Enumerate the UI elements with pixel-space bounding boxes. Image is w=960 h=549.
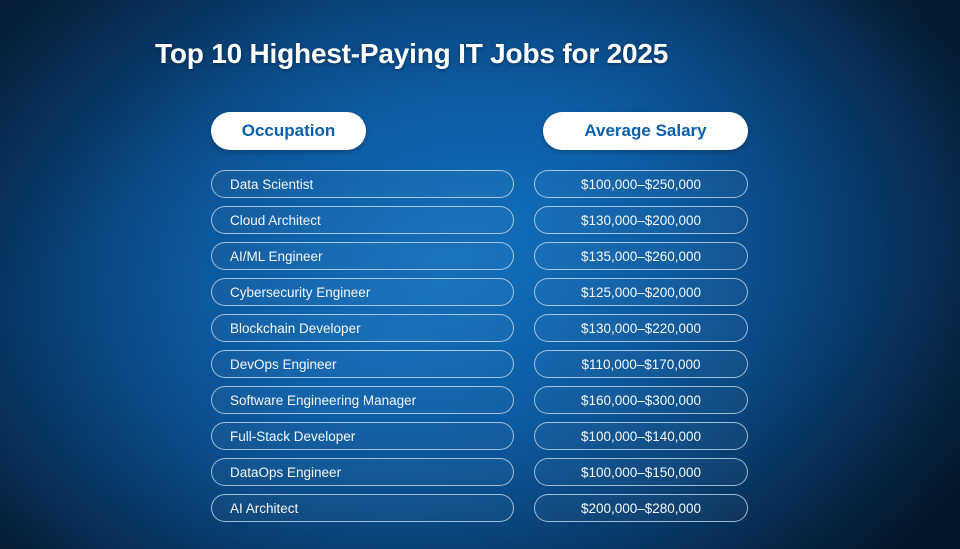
cell-occupation: DataOps Engineer (211, 458, 514, 486)
table-row: AI/ML Engineer$135,000–$260,000 (0, 242, 960, 270)
cell-salary: $100,000–$150,000 (534, 458, 748, 486)
column-header-salary: Average Salary (543, 112, 748, 150)
table-row: Data Scientist$100,000–$250,000 (0, 170, 960, 198)
cell-salary: $110,000–$170,000 (534, 350, 748, 378)
table-row: Blockchain Developer$130,000–$220,000 (0, 314, 960, 342)
cell-occupation: Software Engineering Manager (211, 386, 514, 414)
cell-salary: $100,000–$250,000 (534, 170, 748, 198)
cell-salary: $125,000–$200,000 (534, 278, 748, 306)
column-header-occupation: Occupation (211, 112, 366, 150)
cell-occupation: Cloud Architect (211, 206, 514, 234)
table-row: DataOps Engineer$100,000–$150,000 (0, 458, 960, 486)
cell-salary: $130,000–$200,000 (534, 206, 748, 234)
table-row: DevOps Engineer$110,000–$170,000 (0, 350, 960, 378)
page-title: Top 10 Highest-Paying IT Jobs for 2025 (155, 38, 668, 70)
cell-occupation: Blockchain Developer (211, 314, 514, 342)
cell-occupation: Full-Stack Developer (211, 422, 514, 450)
table-row: Cloud Architect$130,000–$200,000 (0, 206, 960, 234)
table-row: AI Architect$200,000–$280,000 (0, 494, 960, 522)
cell-occupation: AI/ML Engineer (211, 242, 514, 270)
infographic-canvas: Top 10 Highest-Paying IT Jobs for 2025 O… (0, 0, 960, 549)
cell-salary: $130,000–$220,000 (534, 314, 748, 342)
cell-occupation: Cybersecurity Engineer (211, 278, 514, 306)
cell-occupation: AI Architect (211, 494, 514, 522)
table-body: Data Scientist$100,000–$250,000Cloud Arc… (0, 170, 960, 522)
cell-salary: $200,000–$280,000 (534, 494, 748, 522)
table-row: Software Engineering Manager$160,000–$30… (0, 386, 960, 414)
table-header-row: Occupation Average Salary (0, 112, 960, 150)
cell-salary: $100,000–$140,000 (534, 422, 748, 450)
cell-occupation: DevOps Engineer (211, 350, 514, 378)
cell-salary: $160,000–$300,000 (534, 386, 748, 414)
cell-salary: $135,000–$260,000 (534, 242, 748, 270)
cell-occupation: Data Scientist (211, 170, 514, 198)
salary-table: Occupation Average Salary Data Scientist… (0, 112, 960, 530)
table-row: Full-Stack Developer$100,000–$140,000 (0, 422, 960, 450)
table-row: Cybersecurity Engineer$125,000–$200,000 (0, 278, 960, 306)
